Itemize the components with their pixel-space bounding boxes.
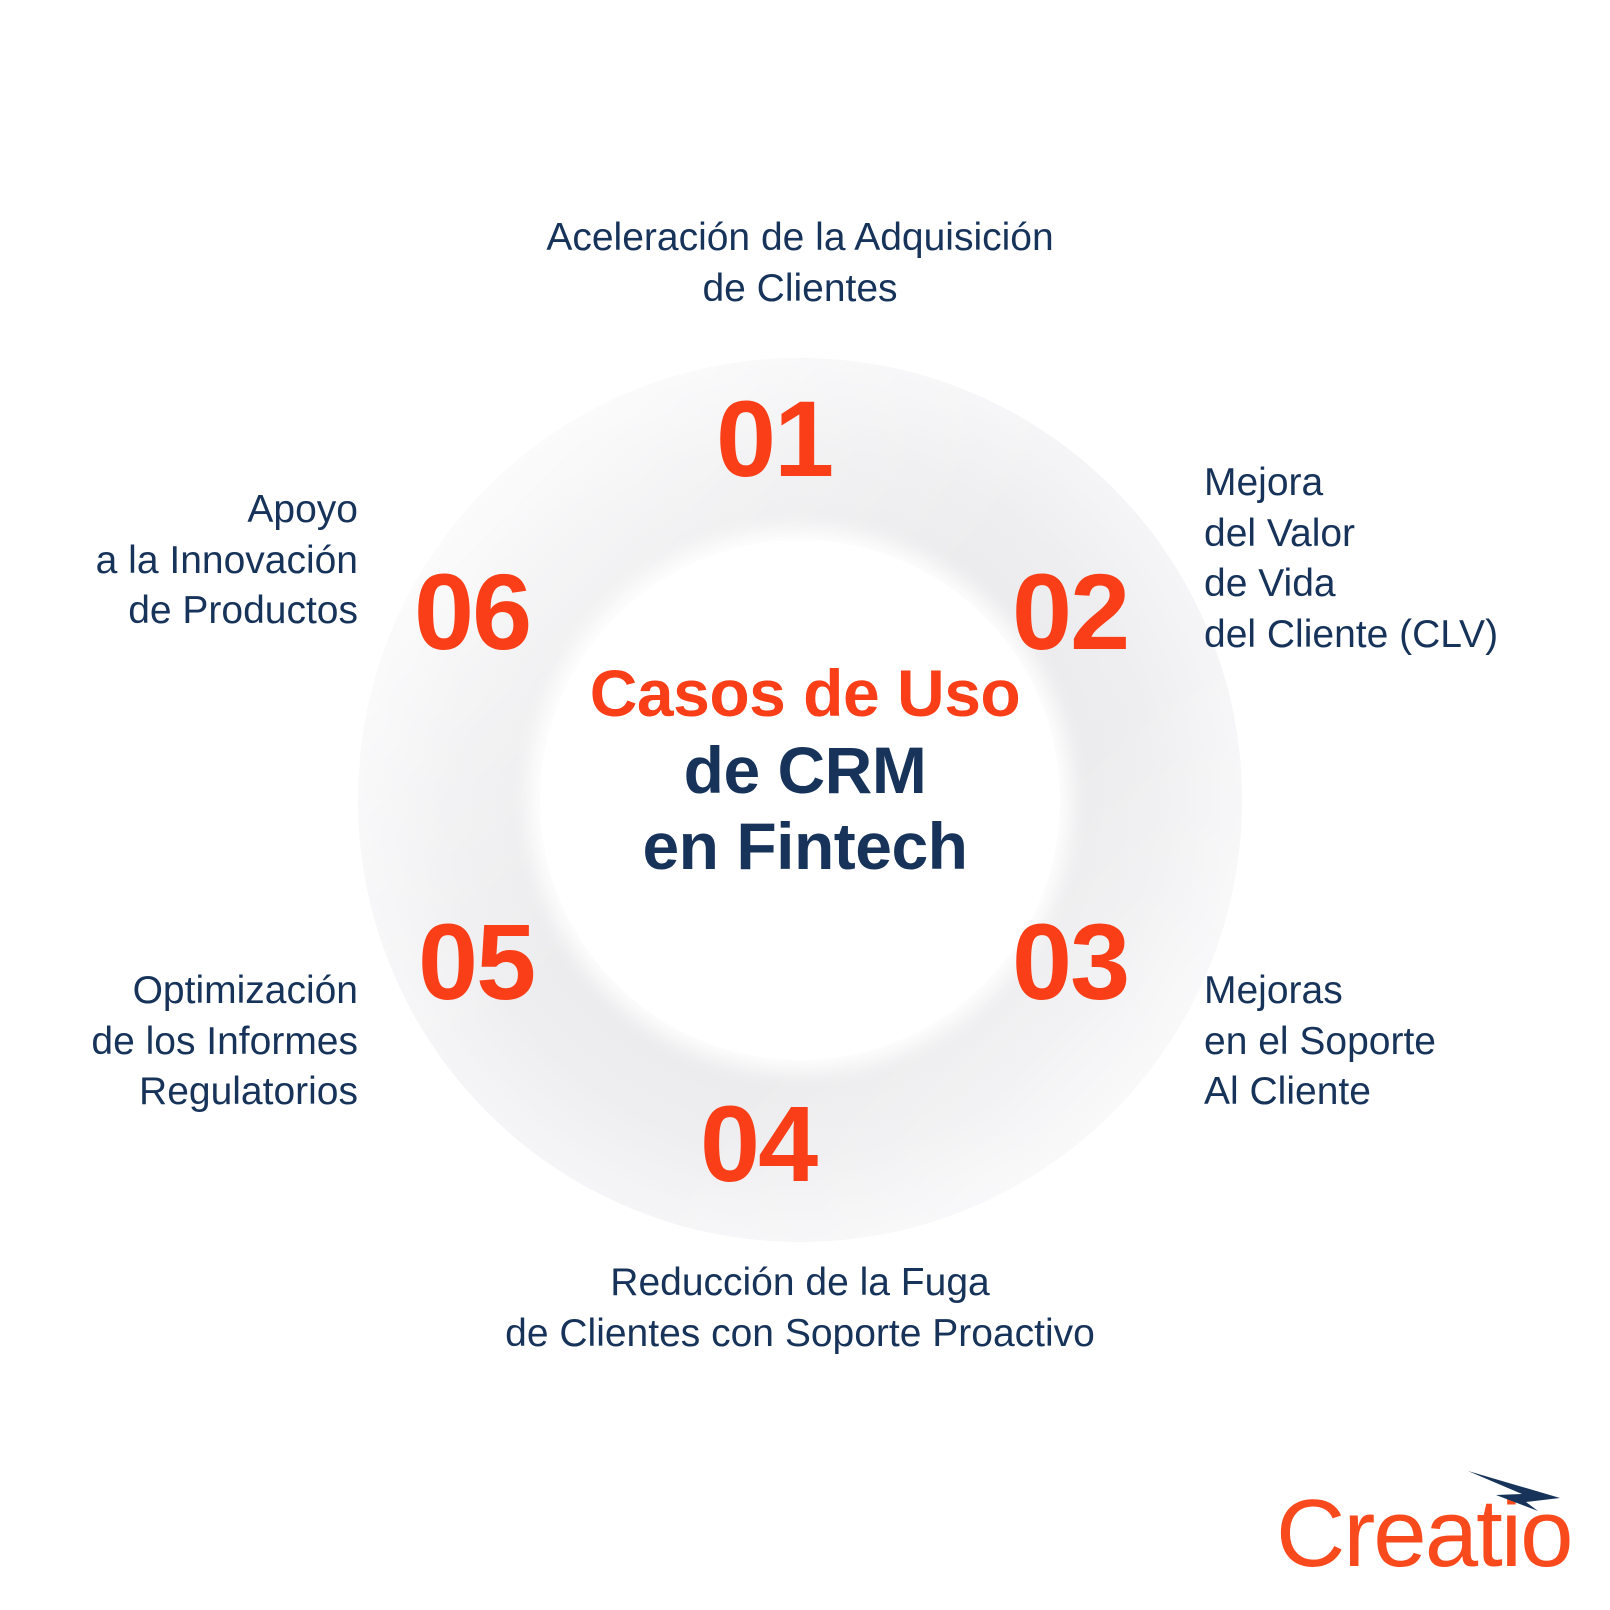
- step-number-06: 06: [414, 558, 530, 666]
- creatio-logo: Creatio: [1276, 1466, 1576, 1584]
- step-label-05: Optimización de los Informes Regulatorio…: [10, 966, 358, 1118]
- center-title-line-2: de CRM: [525, 732, 1085, 809]
- step-label-04: Reducción de la Fuga de Clientes con Sop…: [405, 1258, 1195, 1359]
- step-label-06: Apoyo a la Innovación de Productos: [10, 485, 358, 637]
- step-number-05: 05: [418, 908, 534, 1016]
- step-number-01: 01: [716, 385, 832, 493]
- step-number-03: 03: [1012, 908, 1128, 1016]
- step-label-02: Mejora del Valor de Vida del Cliente (CL…: [1204, 458, 1604, 661]
- step-label-03: Mejoras en el Soporte Al Cliente: [1204, 966, 1604, 1118]
- step-number-04: 04: [700, 1090, 816, 1198]
- center-title-line-3: en Fintech: [525, 808, 1085, 885]
- center-title-line-1: Casos de Uso: [525, 655, 1085, 732]
- step-number-02: 02: [1012, 558, 1128, 666]
- center-title: Casos de Uso de CRM en Fintech: [525, 655, 1085, 885]
- creatio-arrow-icon: [1466, 1468, 1562, 1512]
- step-label-01: Aceleración de la Adquisición de Cliente…: [405, 213, 1195, 314]
- infographic-canvas: Casos de Uso de CRM en Fintech 01 02 03 …: [0, 0, 1610, 1610]
